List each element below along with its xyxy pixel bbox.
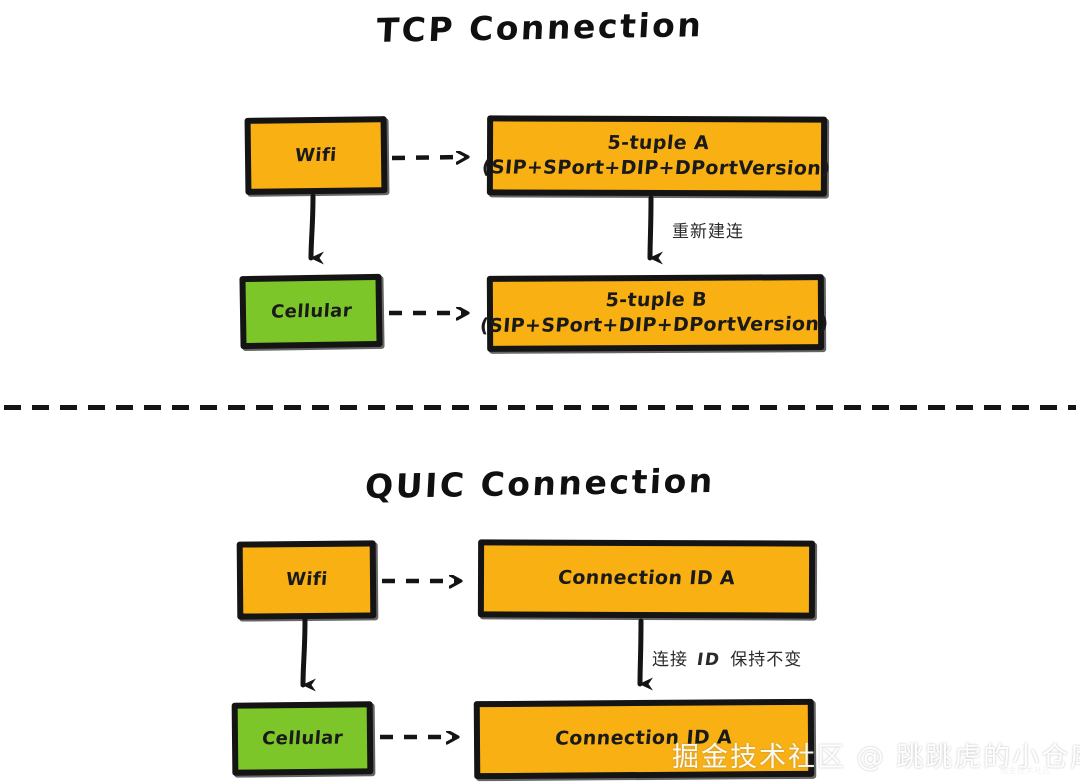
quic-transition-label: 连接 ID 保持不变 bbox=[652, 645, 802, 670]
tcp-section-title: TCP Connection bbox=[0, 0, 1080, 56]
tcp-node-cellular: Cellular bbox=[239, 274, 382, 349]
tcp-node-tuple-b-text: 5-tuple B (SIP+SPort+DIP+DPortVersion) bbox=[473, 288, 837, 338]
tcp-node-cellular-label: Cellular bbox=[264, 300, 359, 323]
tcp-tuple-b-line1: 5-tuple B bbox=[481, 288, 831, 313]
arrow-quic-cid-a-to-cid-b bbox=[640, 621, 641, 684]
quic-transition-label-id: ID bbox=[693, 650, 725, 670]
quic-transition-label-suffix: 保持不变 bbox=[730, 650, 802, 670]
tcp-node-tuple-a: 5-tuple A (SIP+SPort+DIP+DPortVersion) bbox=[487, 115, 827, 196]
quic-node-connection-id-a-label: Connection ID A bbox=[551, 567, 742, 591]
tcp-node-wifi-label: Wifi bbox=[288, 144, 343, 167]
tcp-node-wifi: Wifi bbox=[245, 116, 388, 195]
tcp-tuple-a-line1: 5-tuple A bbox=[483, 131, 834, 155]
tcp-node-tuple-a-text: 5-tuple A (SIP+SPort+DIP+DPortVersion) bbox=[475, 131, 840, 181]
quic-node-connection-id-a: Connection ID A bbox=[478, 539, 815, 618]
quic-node-cellular: Cellular bbox=[232, 701, 374, 775]
arrow-tcp-wifi-to-cellular bbox=[311, 196, 313, 258]
arrow-tcp-tuple-a-to-tuple-b bbox=[650, 198, 651, 258]
arrow-tcp-wifi-to-tuple-a bbox=[392, 157, 466, 158]
tcp-transition-label: 重新建连 bbox=[672, 217, 744, 242]
tcp-node-tuple-b: 5-tuple B (SIP+SPort+DIP+DPortVersion) bbox=[487, 274, 824, 352]
tcp-tuple-a-line2: (SIP+SPort+DIP+DPortVersion) bbox=[481, 156, 832, 180]
diagram-canvas: TCP Connection Wifi Cellular 5-tuple A (… bbox=[0, 0, 1080, 783]
quic-node-cellular-label: Cellular bbox=[255, 727, 350, 750]
watermark-corner-text: 掘金技术社区 bbox=[1000, 765, 1051, 776]
quic-node-wifi-label: Wifi bbox=[279, 569, 334, 591]
quic-transition-label-prefix: 连接 bbox=[652, 650, 688, 670]
quic-node-wifi: Wifi bbox=[237, 540, 377, 619]
tcp-tuple-b-line2: (SIP+SPort+DIP+DPortVersion) bbox=[479, 313, 829, 338]
quic-section-title: QUIC Connection bbox=[0, 455, 1080, 513]
arrow-quic-wifi-to-cellular bbox=[303, 620, 305, 685]
section-divider bbox=[4, 405, 1076, 410]
